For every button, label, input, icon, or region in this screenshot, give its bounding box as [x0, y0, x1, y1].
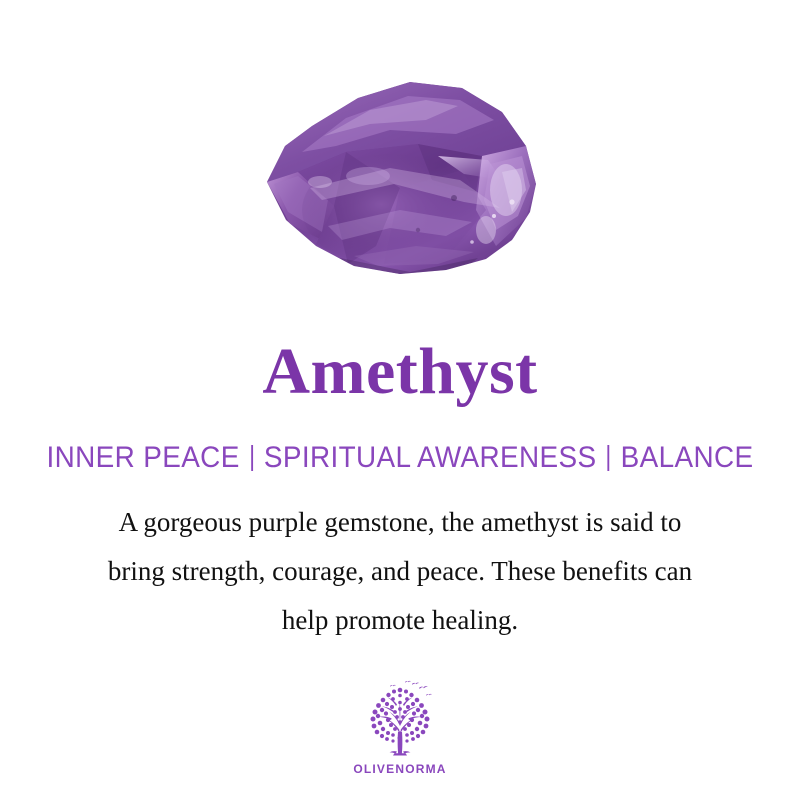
hero-image-container: [0, 60, 800, 310]
keyword-spiritual-awareness: SPIRITUAL AWARENESS: [264, 441, 597, 474]
amethyst-crystal-image: [250, 60, 550, 290]
brand-logo: OLIVENORMA: [0, 676, 800, 776]
tree-of-life-icon: [357, 676, 443, 760]
crystal-body: [250, 60, 550, 290]
keyword-separator-2: [608, 445, 610, 471]
page-title: Amethyst: [0, 336, 800, 408]
keyword-row: INNER PEACESPIRITUAL AWARENESSBALANCE: [28, 440, 772, 476]
description-line-2: bring strength, courage, and peace. Thes…: [50, 547, 750, 596]
keyword-separator-1: [251, 445, 253, 471]
description-line-1: A gorgeous purple gemstone, the amethyst…: [50, 498, 750, 547]
keyword-inner-peace: INNER PEACE: [46, 441, 239, 474]
description-line-3: help promote healing.: [50, 596, 750, 645]
amethyst-info-card: Amethyst INNER PEACESPIRITUAL AWARENESSB…: [0, 0, 800, 800]
description-text: A gorgeous purple gemstone, the amethyst…: [50, 498, 750, 645]
brand-name: OLIVENORMA: [353, 762, 446, 776]
keyword-balance: BALANCE: [621, 441, 754, 474]
